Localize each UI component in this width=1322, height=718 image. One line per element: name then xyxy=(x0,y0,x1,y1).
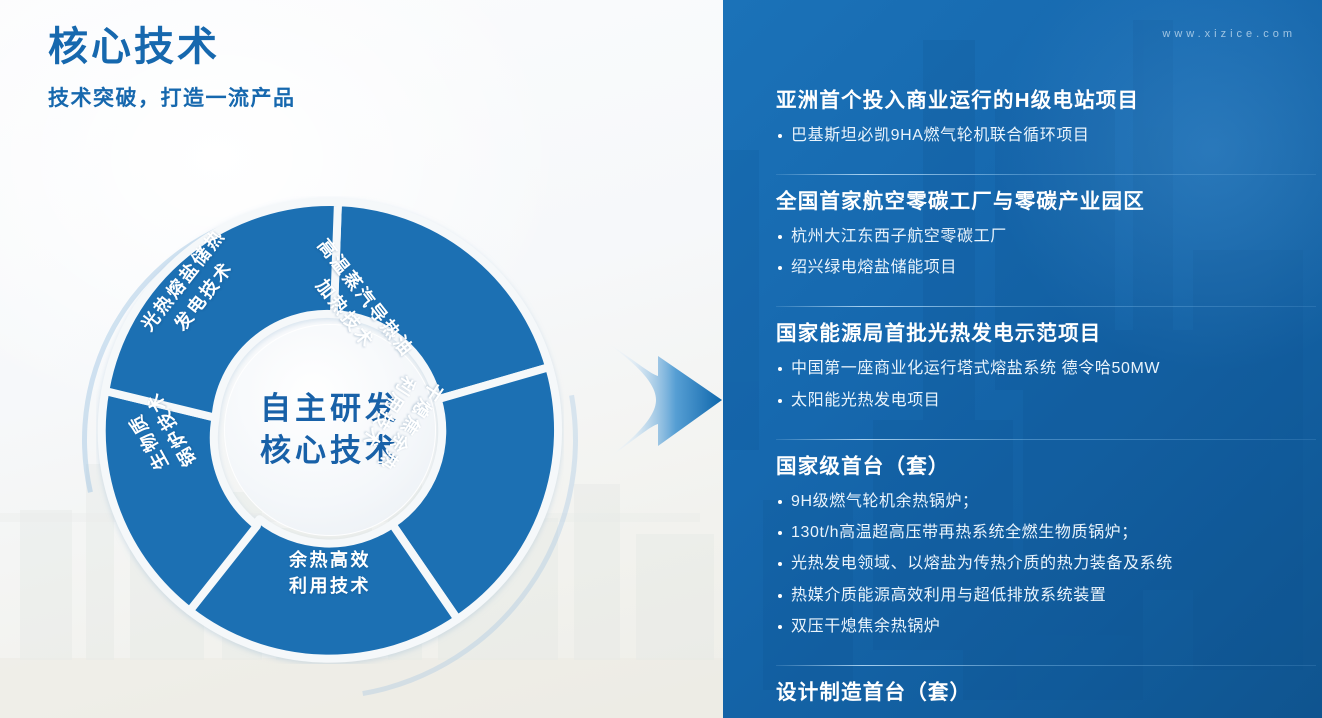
slide-canvas: 核心技术 技术突破，打造一流产品 xyxy=(0,0,1322,718)
section-title: 国家能源局首批光热发电示范项目 xyxy=(776,319,1316,350)
page-title: 核心技术 xyxy=(48,22,296,72)
section-bullet: 光热发电领域、以熔盐为传热介质的热力装备及系统 xyxy=(776,552,1316,576)
section-bullet: 杭州大江东西子航空零碳工厂 xyxy=(776,225,1316,249)
section-divider xyxy=(776,306,1316,307)
label-line-1: 余热高效 xyxy=(289,548,371,574)
section-csp-demo: 国家能源局首批光热发电示范项目 中国第一座商业化运行塔式熔盐系统 德令哈50MW… xyxy=(776,319,1316,428)
section-bullet: 中国第一座商业化运行塔式熔盐系统 德令哈50MW xyxy=(776,357,1316,381)
donut-label-waste-heat: 余热高效 利用技术 xyxy=(289,548,371,599)
section-bullet: 太阳能光热发电项目 xyxy=(776,389,1316,413)
heading-block: 核心技术 技术突破，打造一流产品 xyxy=(48,22,296,112)
transition-arrow xyxy=(598,330,723,470)
section-bullet: 热媒介质能源高效利用与超低排放系统装置 xyxy=(776,584,1316,608)
section-national-first-set: 国家级首台（套） 9H级燃气轮机余热锅炉； 130t/h高温超高压带再热系统全燃… xyxy=(776,452,1316,655)
left-panel: 核心技术 技术突破，打造一流产品 xyxy=(0,0,723,718)
section-design-first-set: 设计制造首台（套） 国内首台超高压带再热垃圾焚烧余热锅炉 xyxy=(776,678,1316,718)
section-bullet: 双压干熄焦余热锅炉 xyxy=(776,615,1316,639)
core-technology-donut: 自主研发 核心技术 高温蒸汽导热油 加热技术 干熄焦余热 利用技术 余热高效 利… xyxy=(96,196,564,664)
section-bullet: 巴基斯坦必凯9HA燃气轮机联合循环项目 xyxy=(776,124,1316,148)
section-divider xyxy=(776,665,1316,666)
site-url-watermark: www.xizice.com xyxy=(1162,28,1296,40)
section-bullet: 9H级燃气轮机余热锅炉； xyxy=(776,490,1316,514)
section-bullet: 绍兴绿电熔盐储能项目 xyxy=(776,256,1316,280)
right-panel: www.xizice.com 亚洲首个投入商业运行的H级电站项目 巴基斯坦必凯9… xyxy=(723,0,1322,718)
section-divider xyxy=(776,439,1316,440)
section-asia-h-class: 亚洲首个投入商业运行的H级电站项目 巴基斯坦必凯9HA燃气轮机联合循环项目 xyxy=(776,86,1316,164)
label-line-2: 利用技术 xyxy=(289,574,371,600)
achievement-sections: 亚洲首个投入商业运行的H级电站项目 巴基斯坦必凯9HA燃气轮机联合循环项目 全国… xyxy=(776,86,1316,718)
section-zero-carbon: 全国首家航空零碳工厂与零碳产业园区 杭州大江东西子航空零碳工厂 绍兴绿电熔盐储能… xyxy=(776,187,1316,296)
section-title: 全国首家航空零碳工厂与零碳产业园区 xyxy=(776,187,1316,218)
section-bullet: 130t/h高温超高压带再热系统全燃生物质锅炉； xyxy=(776,521,1316,545)
section-title: 亚洲首个投入商业运行的H级电站项目 xyxy=(776,86,1316,117)
section-title: 设计制造首台（套） xyxy=(776,678,1316,709)
page-subtitle: 技术突破，打造一流产品 xyxy=(48,82,296,112)
arrow-icon xyxy=(598,330,723,470)
section-divider xyxy=(776,174,1316,175)
section-title: 国家级首台（套） xyxy=(776,452,1316,483)
